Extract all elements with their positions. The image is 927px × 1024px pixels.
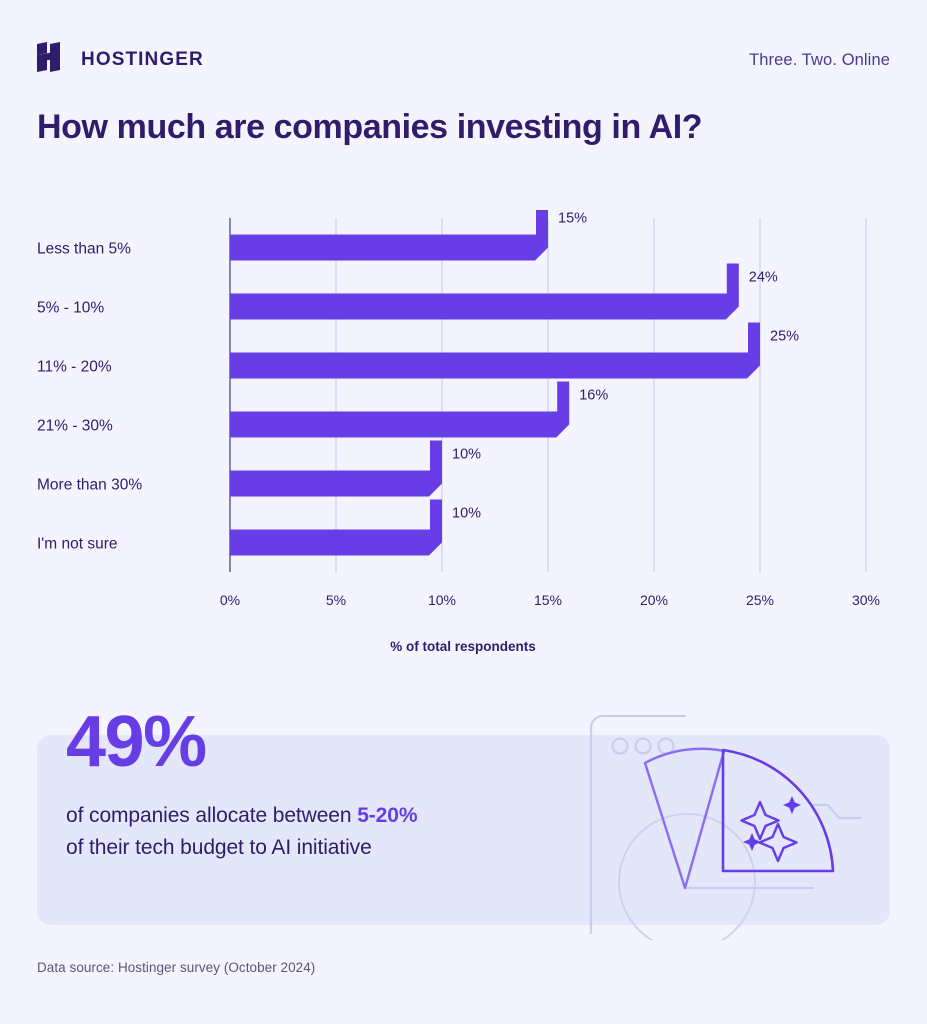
page-header: HOSTINGER Three. Two. Online	[37, 40, 890, 80]
chart-value-label: 15%	[558, 211, 587, 227]
brand-logo: HOSTINGER	[37, 42, 204, 78]
chart-value-label: 10%	[452, 506, 481, 522]
brand-name: HOSTINGER	[81, 49, 204, 71]
chart-category-label: I'm not sure	[37, 536, 118, 553]
chart-canvas: 15%24%25%16%10%10% Less than 5%5% - 10%1…	[0, 210, 927, 660]
chart-bar	[230, 264, 739, 320]
bar-chart: 15%24%25%16%10%10% Less than 5%5% - 10%1…	[0, 210, 927, 660]
chart-category-label: 21% - 30%	[37, 418, 113, 435]
callout-description: of companies allocate between 5-20% of t…	[66, 800, 586, 864]
chart-category-label: Less than 5%	[37, 241, 131, 258]
callout-text-block: 49% of companies allocate between 5-20% …	[66, 706, 586, 864]
chart-x-tick-label: 25%	[746, 592, 774, 608]
chart-x-tick-label: 5%	[326, 592, 346, 608]
chart-x-tick-labels: 0%5%10%15%20%25%30%	[220, 592, 880, 608]
chart-category-label: More than 30%	[37, 477, 142, 494]
chart-value-label: 10%	[452, 447, 481, 463]
chart-category-labels: Less than 5%5% - 10%11% - 20%21% - 30%Mo…	[37, 241, 142, 553]
callout-line1-before: of companies allocate between	[66, 804, 357, 827]
chart-x-axis-title: % of total respondents	[390, 639, 536, 654]
callout-highlight: 5-20%	[357, 804, 417, 827]
chart-category-label: 5% - 10%	[37, 300, 104, 317]
chart-value-label: 24%	[749, 270, 778, 286]
callout-line2: of their tech budget to AI initiative	[66, 836, 372, 859]
chart-x-tick-label: 0%	[220, 592, 240, 608]
hostinger-h-logo-icon	[37, 42, 67, 78]
chart-bar	[230, 323, 760, 379]
chart-value-label: 16%	[579, 388, 608, 404]
chart-bars	[230, 210, 760, 556]
chart-value-label: 25%	[770, 329, 799, 345]
brand-tagline: Three. Two. Online	[749, 51, 890, 70]
data-source-note: Data source: Hostinger survey (October 2…	[37, 960, 315, 975]
callout-stat: 49%	[66, 706, 586, 778]
chart-category-label: 11% - 20%	[37, 359, 112, 376]
chart-x-tick-label: 15%	[534, 592, 562, 608]
chart-x-tick-label: 10%	[428, 592, 456, 608]
chart-x-tick-label: 20%	[640, 592, 668, 608]
chart-x-tick-label: 30%	[852, 592, 880, 608]
browser-pie-chart-sparkles-illustration-icon	[585, 705, 895, 940]
chart-bar	[230, 210, 548, 261]
chart-bar	[230, 382, 569, 438]
page-title: How much are companies investing in AI?	[37, 108, 702, 147]
